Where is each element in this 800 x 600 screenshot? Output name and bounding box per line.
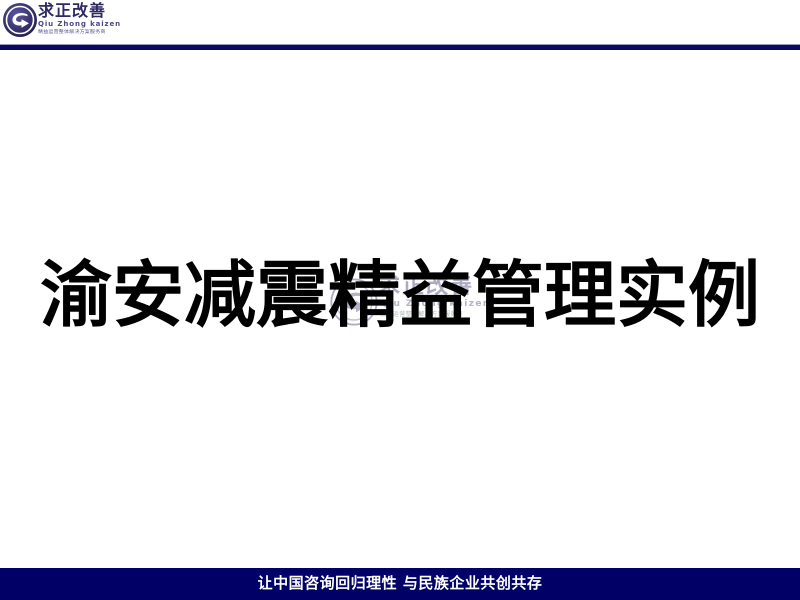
- brand-name: 求正改善: [38, 1, 106, 20]
- slide-header: 求正改善 Qiu Zhong kaizen 精益运营整体解决方案服务商: [0, 0, 800, 45]
- title-area: 渝安减震精益管理实例: [0, 240, 800, 350]
- slide-title: 渝安减震精益管理实例: [40, 252, 760, 338]
- qiuzheng-swoosh-logo-icon: [2, 2, 38, 38]
- footer-slogan: 让中国咨询回归理性 与民族企业共创共存: [0, 568, 800, 600]
- presentation-slide: 求正改善 Qiu Zhong kaizen 精益运营整体解决方案服务商 求正改善…: [0, 0, 800, 600]
- brand-tagline: 精益运营整体解决方案服务商: [38, 29, 106, 35]
- slide-footer-bar: 让中国咨询回归理性 与民族企业共创共存: [0, 568, 800, 600]
- brand-text-block: 求正改善 Qiu Zhong kaizen 精益运营整体解决方案服务商: [38, 1, 118, 39]
- brand-pinyin: Qiu Zhong kaizen: [38, 20, 121, 28]
- header-divider-rule: [0, 44, 800, 50]
